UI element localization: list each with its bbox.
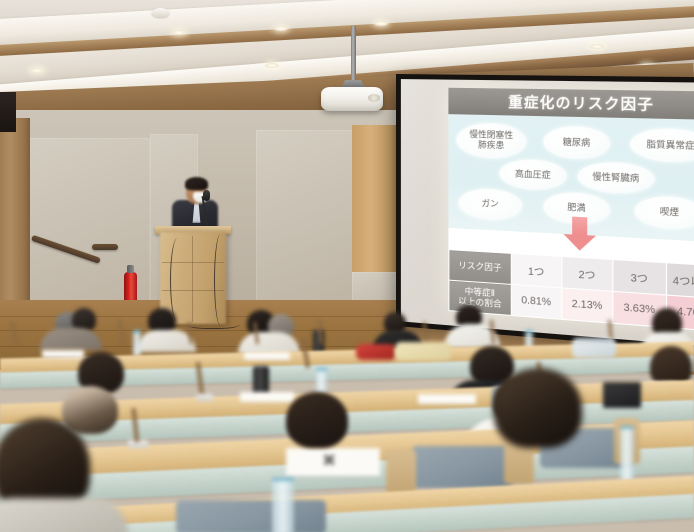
risk-bubble-copd: 慢性閉塞性 肺疾患 bbox=[456, 122, 526, 159]
ceiling-downlight-6 bbox=[265, 63, 279, 68]
table-cell-count-4: 4つ以上 bbox=[666, 263, 694, 299]
water-bottle bbox=[620, 426, 634, 481]
wood-column-right bbox=[352, 125, 398, 275]
water-bottle bbox=[133, 330, 141, 357]
paper-sheet bbox=[244, 352, 290, 360]
risk-bubble-cancer: ガン bbox=[458, 188, 522, 222]
ceiling-downlight-2 bbox=[274, 26, 288, 31]
risk-bubble-dyslipidemia: 脂質異常症 bbox=[630, 128, 694, 164]
audience-shoulders bbox=[40, 328, 102, 350]
projector-lens-icon bbox=[368, 94, 380, 102]
paper-sheet bbox=[42, 350, 84, 358]
table-cell-count-2: 2つ bbox=[561, 256, 613, 291]
stair-handrail-top bbox=[92, 244, 118, 250]
bubble-label: 喫煙 bbox=[660, 207, 679, 218]
ceiling-downlight-5 bbox=[590, 44, 604, 49]
lecture-hall-photo: 重症化のリスク因子 N 慢性閉塞性 肺疾患 糖尿病 脂質異常症 bbox=[0, 0, 694, 532]
table-cell-count-1: 1つ bbox=[511, 253, 561, 287]
ceiling-downlight-4 bbox=[30, 68, 44, 73]
risk-bubble-ckd: 慢性腎臓病 bbox=[577, 161, 654, 195]
presentation-slide: 重症化のリスク因子 N 慢性閉塞性 肺疾患 糖尿病 脂質異常症 bbox=[448, 88, 694, 332]
table-cell-count-3: 3つ bbox=[613, 260, 666, 296]
risk-bubble-hypertension: 高血圧症 bbox=[499, 158, 566, 191]
bubble-label: 糖尿病 bbox=[563, 137, 591, 148]
floor-cable bbox=[186, 318, 240, 329]
wood-column-far-left bbox=[0, 92, 16, 132]
table-row-header-risk: リスク因子 bbox=[449, 250, 511, 285]
bubble-label-line2: 肺疾患 bbox=[478, 139, 504, 150]
ceiling-downlight-3 bbox=[374, 21, 388, 26]
smartphone bbox=[603, 382, 641, 408]
plastic-bag bbox=[572, 338, 616, 358]
down-arrow-head-icon bbox=[564, 234, 596, 252]
down-arrow-icon bbox=[572, 217, 587, 236]
podium-cable bbox=[170, 238, 185, 322]
bubble-label: 高血圧症 bbox=[515, 169, 551, 181]
podium-panel-line bbox=[192, 236, 193, 322]
desk-microphone-base bbox=[196, 394, 213, 401]
water-bottle bbox=[272, 478, 294, 532]
audience-shoulders bbox=[136, 330, 196, 352]
seat-back-front-row bbox=[176, 500, 326, 532]
podium-microphone-head bbox=[203, 190, 210, 201]
risk-bubble-diabetes: 糖尿病 bbox=[543, 126, 610, 161]
ceiling-downlight-1 bbox=[172, 30, 186, 35]
bubble-label: ガン bbox=[481, 199, 498, 210]
paper-sheet bbox=[240, 392, 294, 402]
projector-mount-pole bbox=[351, 26, 356, 82]
audience-head-foreground bbox=[494, 368, 582, 448]
projection-screen-surface: 重症化のリスク因子 N 慢性閉塞性 肺疾患 糖尿病 脂質異常症 bbox=[401, 79, 694, 346]
bubble-label: 脂質異常症 bbox=[646, 139, 694, 151]
x-mark-symbol: ✖ bbox=[322, 452, 336, 469]
handbag bbox=[356, 344, 396, 360]
table-cell-pct-1: 0.81% bbox=[511, 284, 561, 319]
audience-shoulders-foreground bbox=[0, 498, 128, 532]
podium-cable bbox=[214, 234, 227, 326]
risk-bubble-smoking: 喫煙 bbox=[634, 195, 694, 231]
smoke-detector-icon bbox=[152, 8, 169, 17]
audience-head bbox=[286, 392, 348, 448]
seat-armrest bbox=[386, 450, 416, 496]
bubble-label: 慢性腎臓病 bbox=[592, 172, 639, 184]
wood-column-left-edge bbox=[0, 118, 30, 320]
bubble-label: 肥満 bbox=[567, 203, 585, 214]
seat-back bbox=[412, 446, 512, 488]
paper-bag bbox=[395, 342, 451, 360]
projection-screen-frame: 重症化のリスク因子 N 慢性閉塞性 肺疾患 糖尿病 脂質異常症 bbox=[396, 74, 694, 352]
concrete-panel-center bbox=[256, 130, 354, 318]
table-cell-pct-2: 2.13% bbox=[561, 288, 613, 323]
slide-title: 重症化のリスク因子 bbox=[508, 92, 654, 116]
paper-sheet bbox=[418, 394, 476, 404]
